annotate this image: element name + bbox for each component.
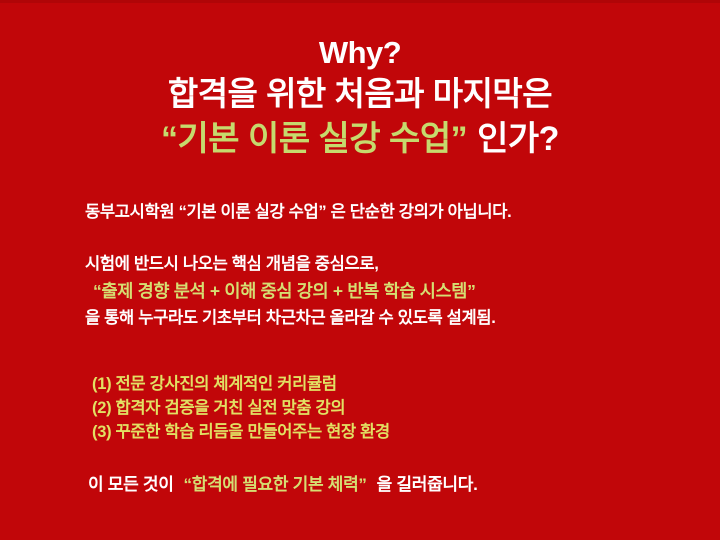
body-after-quote-line: 을 통해 누구라도 기초부터 차근차근 올라갈 수 있도록 설계됨. bbox=[85, 305, 685, 332]
closing-suffix: 을 길러줍니다. bbox=[377, 475, 478, 494]
title-line-subtitle: 합격을 위한 처음과 마지막은 bbox=[0, 72, 720, 116]
body-lead-line: 동부고시학원 “기본 이론 실강 수업” 은 단순한 강의가 아닙니다. bbox=[85, 200, 685, 225]
title-question-tail: 인가? bbox=[477, 120, 559, 158]
list-item: (3) 꾸준한 학습 리듬을 만들어주는 현장 환경 bbox=[92, 420, 652, 444]
title-quoted-phrase: “기본 이론 실강 수업” bbox=[161, 120, 467, 158]
closing-block: 이 모든 것이“합격에 필요한 기본 체력”을 길러줍니다. bbox=[88, 472, 688, 498]
title-line-question: “기본 이론 실강 수업”인가? bbox=[0, 116, 720, 162]
body-block: 동부고시학원 “기본 이론 실강 수업” 은 단순한 강의가 아닙니다. 시험에… bbox=[85, 200, 685, 332]
promo-slide: Why? 합격을 위한 처음과 마지막은 “기본 이론 실강 수업”인가? 동부… bbox=[0, 0, 720, 540]
body-quoted-system-line: “출제 경향 분석 + 이해 중심 강의 + 반복 학습 시스템” bbox=[85, 277, 685, 305]
closing-prefix: 이 모든 것이 bbox=[88, 475, 174, 494]
feature-list: (1) 전문 강사진의 체계적인 커리큘럼 (2) 합격자 검증을 거친 실전 … bbox=[92, 372, 652, 444]
list-item: (2) 합격자 검증을 거친 실전 맞춤 강의 bbox=[92, 396, 652, 420]
list-item: (1) 전문 강사진의 체계적인 커리큘럼 bbox=[92, 372, 652, 396]
title-line-why: Why? bbox=[0, 34, 720, 72]
title-block: Why? 합격을 위한 처음과 마지막은 “기본 이론 실강 수업”인가? bbox=[0, 34, 720, 162]
body-intro-line: 시험에 반드시 나오는 핵심 개념을 중심으로, bbox=[85, 252, 685, 277]
closing-line: 이 모든 것이“합격에 필요한 기본 체력”을 길러줍니다. bbox=[88, 472, 688, 498]
closing-quoted-phrase: “합격에 필요한 기본 체력” bbox=[184, 475, 367, 494]
